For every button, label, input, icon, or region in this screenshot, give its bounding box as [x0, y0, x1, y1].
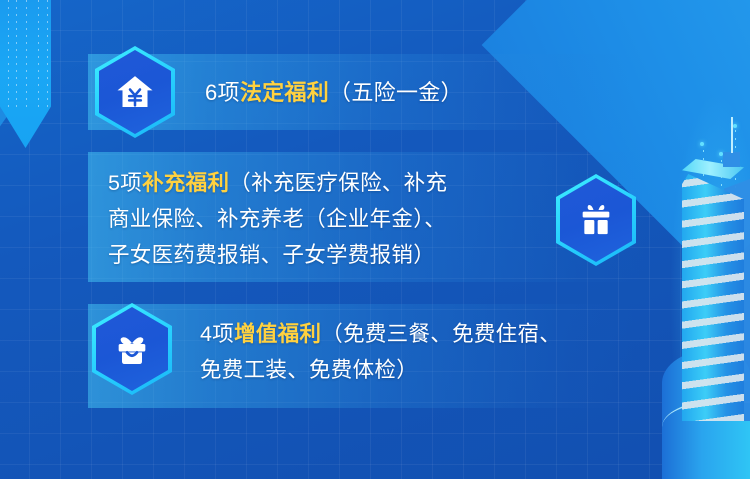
poster-canvas: 6项法定福利（五险一金） 5项补充福利（补充医疗保险、补充 商业保险、补充养老（ — [0, 0, 750, 479]
benefit-line: 免费工装、免费体检） — [200, 352, 561, 388]
house-yen-icon — [95, 46, 175, 138]
benefit-text-segment: （五险一金） — [329, 80, 463, 105]
benefit-text-highlight: 增值福利 — [234, 322, 321, 346]
benefit-line: 6项法定福利（五险一金） — [205, 75, 463, 111]
benefit-text-segment: 免费工装、免费体检） — [200, 358, 418, 382]
benefit-line: 商业保险、补充养老（企业年金）、 — [108, 201, 447, 237]
benefit-text-segment: （免费三餐、免费住宿、 — [321, 322, 561, 346]
benefit-line: 子女医药费报销、子女学费报销） — [108, 237, 447, 273]
benefit-text-segment: 6项 — [205, 80, 240, 105]
benefit-line: 5项补充福利（补充医疗保险、补充 — [108, 165, 447, 201]
benefit-text-supplementary: 5项补充福利（补充医疗保险、补充 商业保险、补充养老（企业年金）、 子女医药费报… — [108, 165, 447, 273]
benefit-text-value-added: 4项增值福利（免费三餐、免费住宿、 免费工装、免费体检） — [200, 316, 561, 388]
benefit-text-segment: （补充医疗保险、补充 — [229, 171, 447, 195]
benefit-text-highlight: 补充福利 — [142, 171, 229, 195]
benefit-text-statutory: 6项法定福利（五险一金） — [205, 75, 463, 111]
benefit-text-highlight: 法定福利 — [240, 80, 329, 105]
benefit-line: 4项增值福利（免费三餐、免费住宿、 — [200, 316, 561, 352]
gift-bag-icon — [92, 303, 172, 395]
benefit-text-segment: 子女医药费报销、子女学费报销） — [108, 243, 435, 267]
gift-box-icon — [556, 174, 636, 266]
hexagon-badge-statutory[interactable] — [95, 46, 175, 138]
benefit-text-segment: 5项 — [108, 171, 142, 195]
skyscraper-illustration — [658, 0, 750, 479]
arrow-dot-lines — [4, 0, 48, 108]
hexagon-badge-value-added[interactable] — [92, 303, 172, 395]
hexagon-badge-supplementary[interactable] — [556, 174, 636, 266]
benefit-text-segment: 4项 — [200, 322, 234, 346]
benefit-text-segment: 商业保险、补充养老（企业年金）、 — [108, 207, 446, 231]
